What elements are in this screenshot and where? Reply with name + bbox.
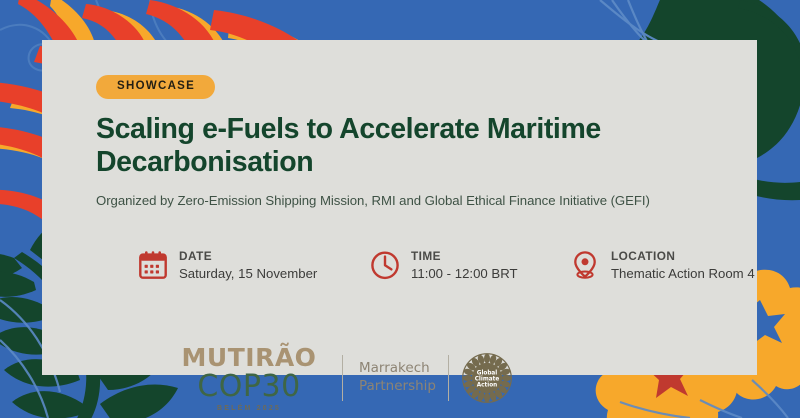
marrakech-line-2: Partnership	[359, 378, 436, 396]
meta-label-date: DATE	[179, 249, 317, 263]
marrakech-partnership-logo: Marrakech Partnership	[359, 360, 436, 396]
meta-label-location: LOCATION	[611, 249, 755, 263]
cop30-wordmark: COP30	[160, 371, 338, 403]
meta-text-location: LOCATION Thematic Action Room 4	[611, 248, 755, 283]
cop30-logo: MUTIRÃO COP30 BELÉM 2025	[160, 345, 338, 412]
clock-icon	[370, 249, 400, 281]
meta-value-location: Thematic Action Room 4	[611, 264, 755, 283]
meta-value-date: Saturday, 15 November	[179, 264, 317, 283]
seal-line-1: Global	[477, 371, 498, 377]
meta-item-location: LOCATION Thematic Action Room 4	[570, 248, 798, 283]
content-card: SHOWCASE Scaling e-Fuels to Accelerate M…	[42, 40, 757, 375]
logo-divider-2	[448, 355, 449, 401]
cop30-belem-text: BELÉM 2025	[160, 405, 338, 412]
meta-text-date: DATE Saturday, 15 November	[179, 248, 317, 283]
card-header-block: SHOWCASE Scaling e-Fuels to Accelerate M…	[96, 75, 741, 209]
logo-divider-1	[342, 355, 343, 401]
marrakech-line-1: Marrakech	[359, 360, 436, 378]
map-pin-icon	[570, 249, 600, 281]
logo-row: MUTIRÃO COP30 BELÉM 2025 Marrakech Partn…	[160, 345, 513, 412]
meta-label-time: TIME	[411, 249, 518, 263]
seal-line-3: Action	[477, 383, 498, 389]
global-climate-action-seal-icon: Global Climate Action	[461, 352, 513, 404]
seal-line-2: Climate	[475, 377, 500, 383]
calendar-icon	[138, 249, 168, 281]
meta-value-time: 11:00 - 12:00 BRT	[411, 264, 518, 283]
event-meta-row: DATE Saturday, 15 November TIME 11:00 - …	[138, 248, 798, 283]
meta-text-time: TIME 11:00 - 12:00 BRT	[411, 248, 518, 283]
page-title: Scaling e-Fuels to Accelerate Maritime D…	[96, 113, 716, 180]
organizer-text: Organized by Zero-Emission Shipping Miss…	[96, 192, 741, 209]
cop30-mutirao-text: MUTIRÃO	[160, 345, 338, 370]
meta-item-date: DATE Saturday, 15 November	[138, 248, 370, 283]
event-announcement-poster: SHOWCASE Scaling e-Fuels to Accelerate M…	[0, 0, 800, 418]
showcase-badge: SHOWCASE	[96, 75, 215, 99]
meta-item-time: TIME 11:00 - 12:00 BRT	[370, 248, 570, 283]
